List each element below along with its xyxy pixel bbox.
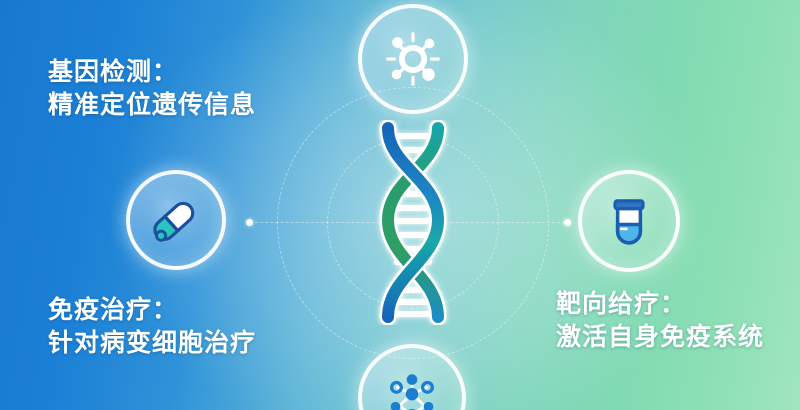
icon-bubble-virus[interactable] bbox=[358, 4, 468, 114]
caption-gene-detection: 基因检测： 精准定位遗传信息 bbox=[48, 56, 256, 122]
dna-double-helix bbox=[368, 120, 458, 325]
connector-dot-left bbox=[246, 219, 253, 226]
virus-cell-icon bbox=[382, 28, 444, 90]
caption-line-1: 靶向给疗： bbox=[556, 288, 764, 321]
test-tube-icon bbox=[601, 193, 657, 249]
connector-dot-right bbox=[564, 219, 571, 226]
infographic-canvas: 基因检测： 精准定位遗传信息 免疫治疗： 针对病变细胞治疗 靶向给疗： 激活自身… bbox=[0, 0, 800, 410]
icon-bubble-test-tube[interactable] bbox=[578, 170, 680, 272]
caption-line-2: 针对病变细胞治疗 bbox=[48, 327, 256, 360]
caption-line-2: 精准定位遗传信息 bbox=[48, 89, 256, 122]
caption-line-2: 激活自身免疫系统 bbox=[556, 321, 764, 354]
capsule-pill-icon bbox=[148, 192, 204, 248]
caption-targeted-delivery: 靶向给疗： 激活自身免疫系统 bbox=[556, 288, 764, 354]
caption-immune-therapy: 免疫治疗： 针对病变细胞治疗 bbox=[48, 294, 256, 360]
molecule-network-icon bbox=[381, 367, 443, 410]
caption-line-1: 免疫治疗： bbox=[48, 294, 256, 327]
caption-line-1: 基因检测： bbox=[48, 56, 256, 89]
icon-bubble-pill[interactable] bbox=[126, 170, 226, 270]
